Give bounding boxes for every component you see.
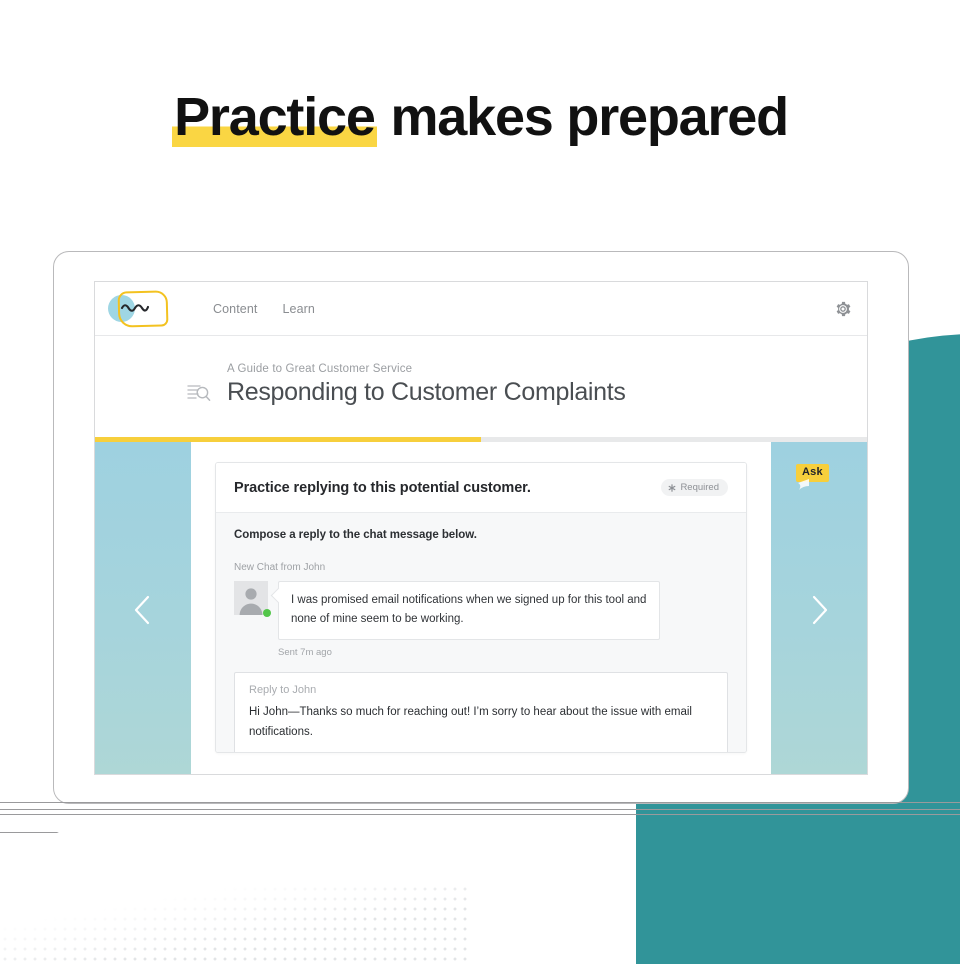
reply-input-value: Hi John—Thanks so much for reaching out!… <box>249 702 713 742</box>
app-screen: Content Learn A Guide to Great Customer … <box>94 281 868 775</box>
chevron-right-icon[interactable] <box>808 594 830 626</box>
avatar <box>234 581 268 615</box>
app-logo[interactable] <box>104 286 178 332</box>
chat-message-row: I was promised email notifications when … <box>234 581 728 640</box>
logo-squiggle-icon <box>120 301 150 315</box>
document-search-icon <box>187 382 211 404</box>
chevron-left-icon[interactable] <box>132 594 154 626</box>
required-badge-label: Required <box>680 482 719 493</box>
app-navbar: Content Learn <box>95 282 867 336</box>
background-dot-pattern <box>0 884 470 964</box>
required-badge: Required <box>661 479 728 496</box>
chat-source-label: New Chat from John <box>234 562 728 573</box>
reply-input[interactable]: Reply to John Hi John—Thanks so much for… <box>234 672 728 752</box>
laptop-base <box>0 802 960 838</box>
navbar-links: Content Learn <box>213 302 315 316</box>
nav-link-learn[interactable]: Learn <box>282 302 314 316</box>
page-headline: Practice makes prepared <box>0 86 960 148</box>
online-status-dot <box>263 609 271 617</box>
chat-sent-timestamp: Sent 7m ago <box>278 647 728 658</box>
headline-highlight: Practice <box>172 87 377 147</box>
prev-slide-rail[interactable] <box>95 442 191 775</box>
practice-card-header: Practice replying to this potential cust… <box>216 463 746 513</box>
next-slide-rail[interactable]: Ask <box>771 442 867 775</box>
practice-card-body: Compose a reply to the chat message belo… <box>216 513 746 752</box>
nav-link-content[interactable]: Content <box>213 302 257 316</box>
asterisk-icon <box>668 484 676 492</box>
chat-message-bubble: I was promised email notifications when … <box>278 581 660 640</box>
ask-badge[interactable]: Ask <box>796 462 829 482</box>
doc-eyebrow: A Guide to Great Customer Service <box>227 363 412 375</box>
compose-instruction: Compose a reply to the chat message belo… <box>234 529 728 541</box>
lesson-content: Practice replying to this potential cust… <box>191 442 771 775</box>
doc-title-block: A Guide to Great Customer Service Respon… <box>95 336 867 437</box>
ask-bubble-tail-icon <box>797 479 811 491</box>
practice-card-title: Practice replying to this potential cust… <box>234 480 531 496</box>
laptop-base-line <box>0 809 960 810</box>
practice-card: Practice replying to this potential cust… <box>215 462 747 753</box>
gear-icon[interactable] <box>834 300 852 318</box>
doc-title: Responding to Customer Complaints <box>227 378 626 407</box>
headline-rest: makes prepared <box>377 87 788 147</box>
laptop-base-line <box>0 814 960 815</box>
reply-input-label: Reply to John <box>249 684 713 696</box>
laptop-base-line <box>0 802 960 803</box>
app-body: Practice replying to this potential cust… <box>95 442 867 775</box>
laptop-base-taper <box>0 814 93 833</box>
